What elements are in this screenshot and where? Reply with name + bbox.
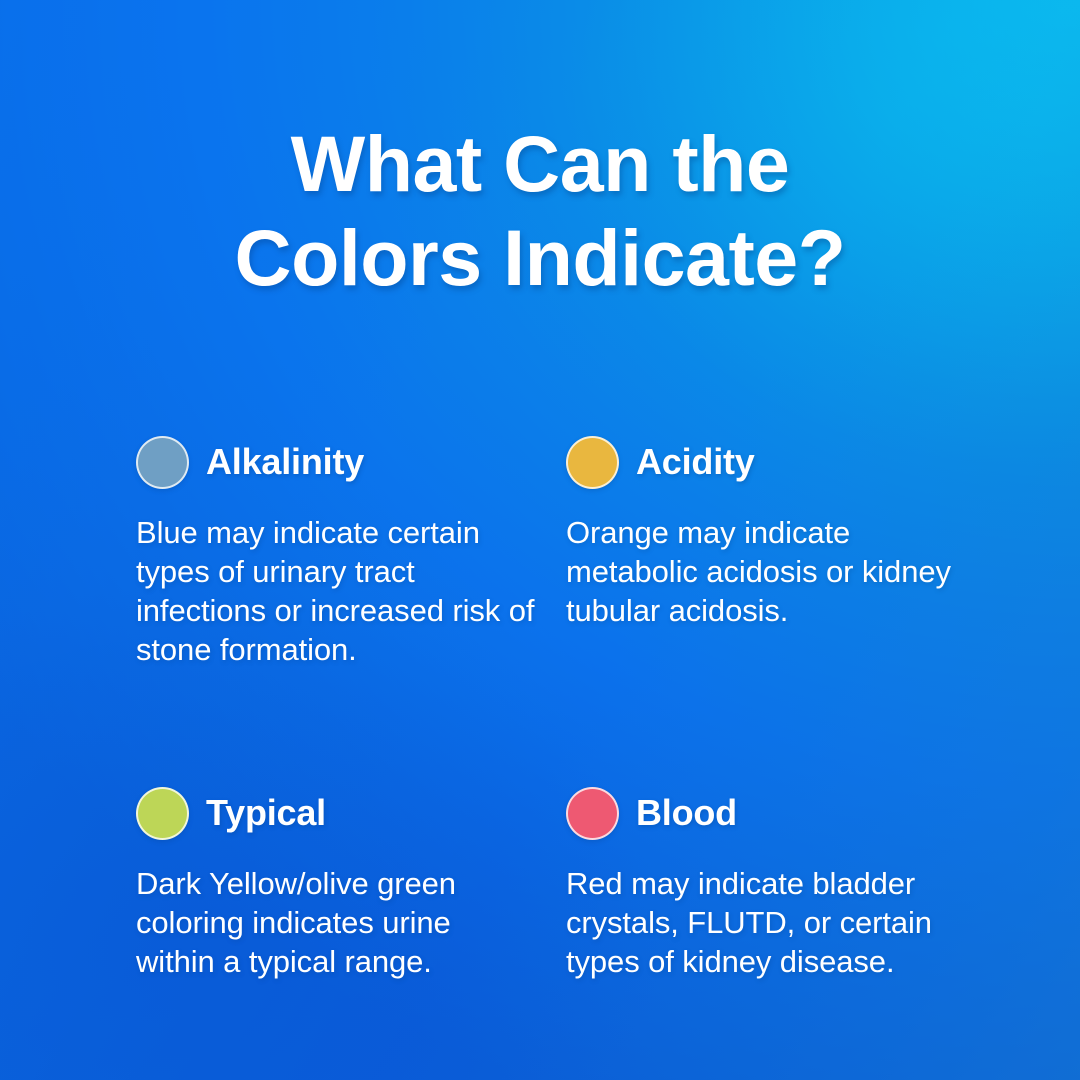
page-title: What Can the Colors Indicate? (0, 117, 1080, 305)
legend-entry-description: Blue may indicate certain types of urina… (136, 513, 536, 669)
alkalinity-color-swatch-icon (136, 436, 189, 489)
legend-entry-title: Acidity (636, 442, 755, 482)
legend-entry-title: Typical (206, 793, 326, 833)
infographic-poster: What Can the Colors Indicate? Alkalinity… (0, 0, 1080, 1080)
legend-entry-typical: Typical Dark Yellow/olive green coloring… (136, 700, 548, 1012)
legend-entry-title: Blood (636, 793, 737, 833)
legend-entry-alkalinity: Alkalinity Blue may indicate certain typ… (136, 434, 548, 700)
legend-entry-blood: Blood Red may indicate bladder crystals,… (566, 700, 978, 1012)
page-title-line-2: Colors Indicate? (0, 211, 1080, 305)
page-title-line-1: What Can the (0, 117, 1080, 211)
legend-entry-title: Alkalinity (206, 442, 364, 482)
legend-entry-description: Red may indicate bladder crystals, FLUTD… (566, 864, 961, 981)
legend-entry-header: Blood (566, 785, 978, 841)
legend-entry-description: Orange may indicate metabolic acidosis o… (566, 513, 961, 630)
legend-entry-header: Acidity (566, 434, 978, 490)
legend-entry-header: Typical (136, 785, 548, 841)
blood-color-swatch-icon (566, 787, 619, 840)
legend-entry-description: Dark Yellow/olive green coloring indicat… (136, 864, 536, 981)
legend-entry-header: Alkalinity (136, 434, 548, 490)
typical-color-swatch-icon (136, 787, 189, 840)
acidity-color-swatch-icon (566, 436, 619, 489)
legend-entry-acidity: Acidity Orange may indicate metabolic ac… (566, 434, 978, 700)
color-legend-grid: Alkalinity Blue may indicate certain typ… (0, 434, 1080, 1012)
